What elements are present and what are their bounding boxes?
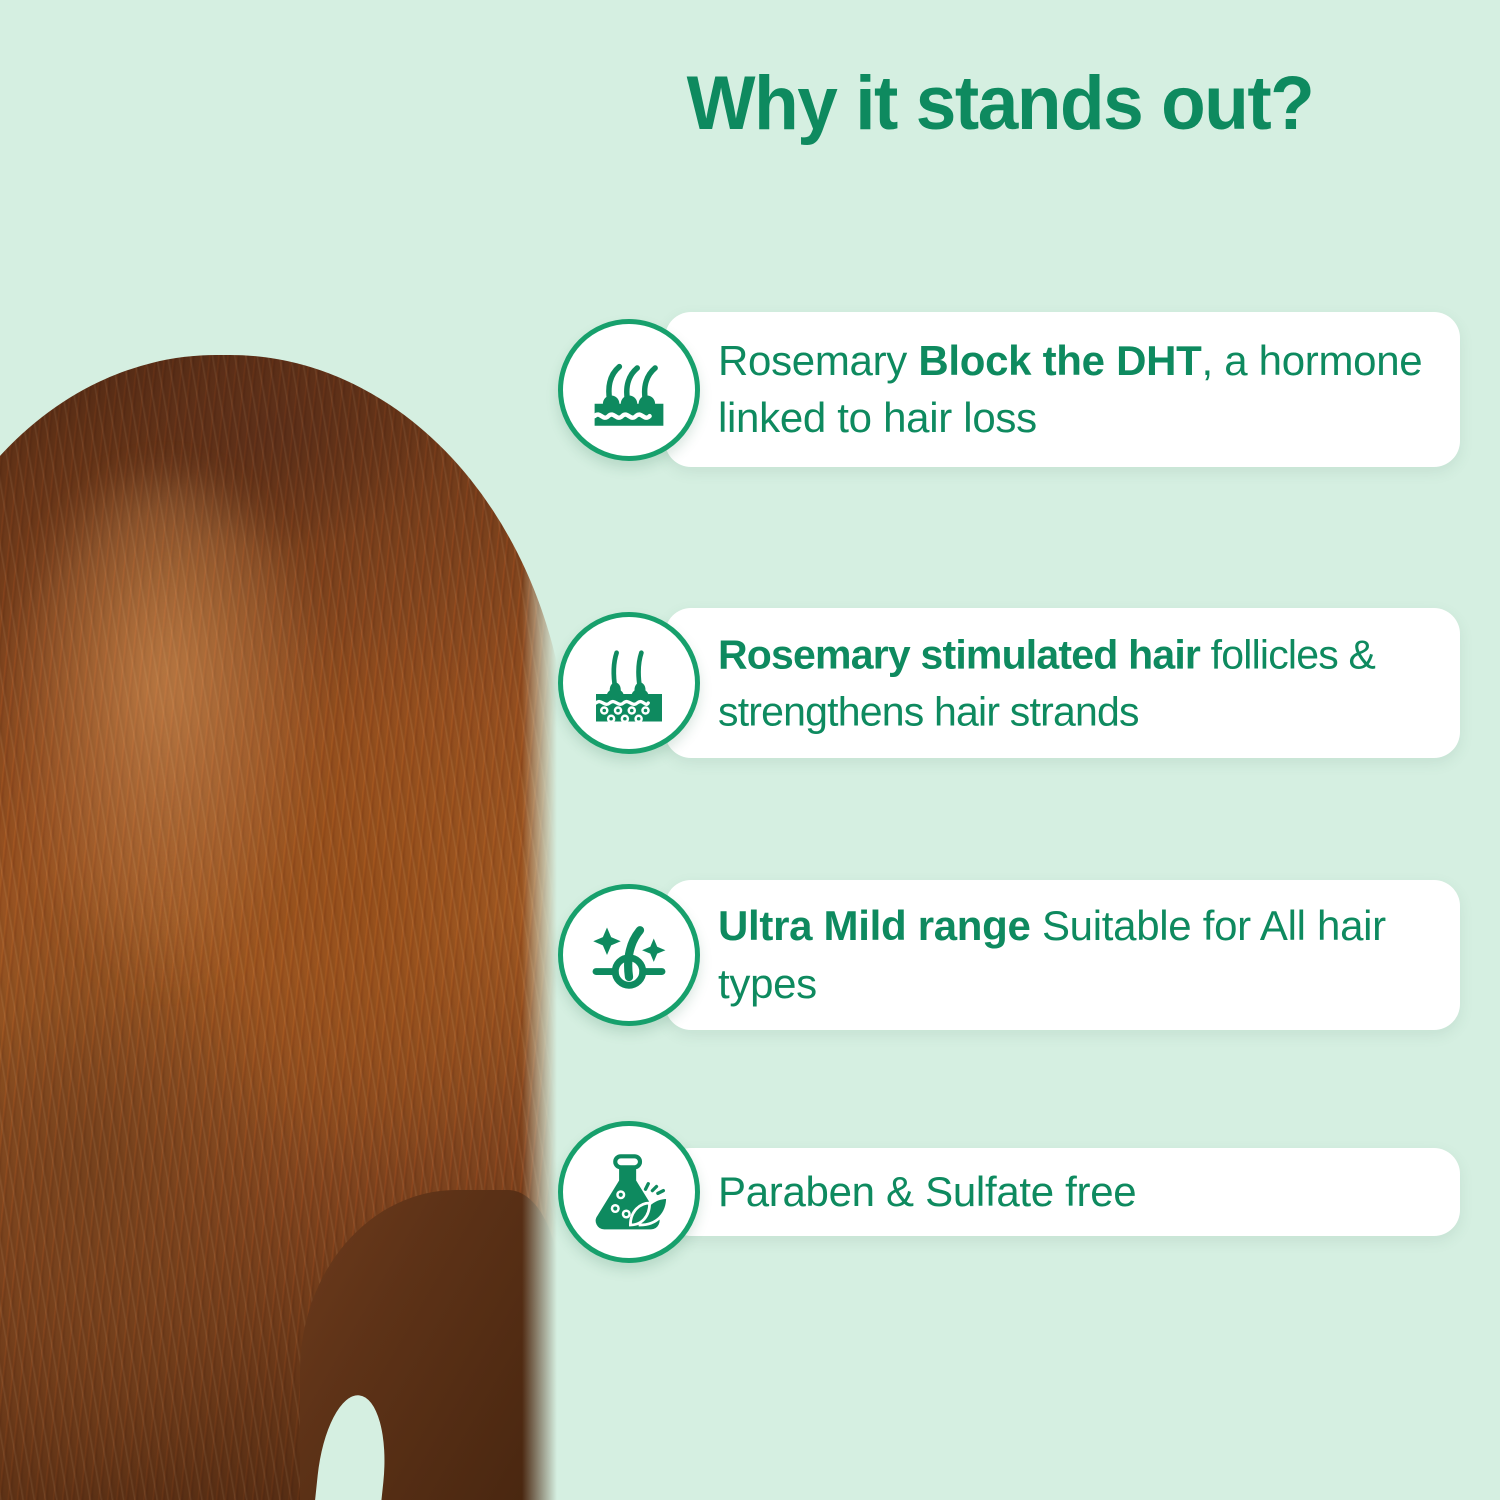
feature-text-lead: Rosemary: [718, 337, 918, 384]
feature-text-bold: Ultra Mild range: [718, 902, 1031, 949]
hair-follicle-skin-icon: [558, 612, 700, 754]
feature-text: Paraben & Sulfate free: [718, 1163, 1438, 1221]
feature-text: Rosemary Block the DHT, a hormone linked…: [718, 332, 1438, 448]
feature-text: Ultra Mild range Suitable for All hair t…: [718, 897, 1438, 1013]
feature-text-bold: Rosemary stimulated hair: [718, 631, 1200, 677]
feature-item-ultra-mild: Ultra Mild range Suitable for All hair t…: [558, 880, 1460, 1030]
feature-item-follicle-stimulation: Rosemary stimulated hair follicles & str…: [558, 608, 1460, 758]
feature-text-bold: Block the DHT: [918, 337, 1201, 384]
hair-strands-scalp-icon: [558, 319, 700, 461]
hair-strand-sparkle-icon: [558, 884, 700, 1026]
feature-text-lead: Paraben & Sulfate free: [718, 1168, 1136, 1215]
flask-leaf-icon: [558, 1121, 700, 1263]
page-title: Why it stands out?: [578, 62, 1423, 146]
feature-item-paraben-sulfate-free: Paraben & Sulfate free: [558, 1148, 1460, 1236]
feature-text: Rosemary stimulated hair follicles & str…: [718, 626, 1478, 739]
feature-item-dht-block: Rosemary Block the DHT, a hormone linked…: [558, 312, 1460, 467]
